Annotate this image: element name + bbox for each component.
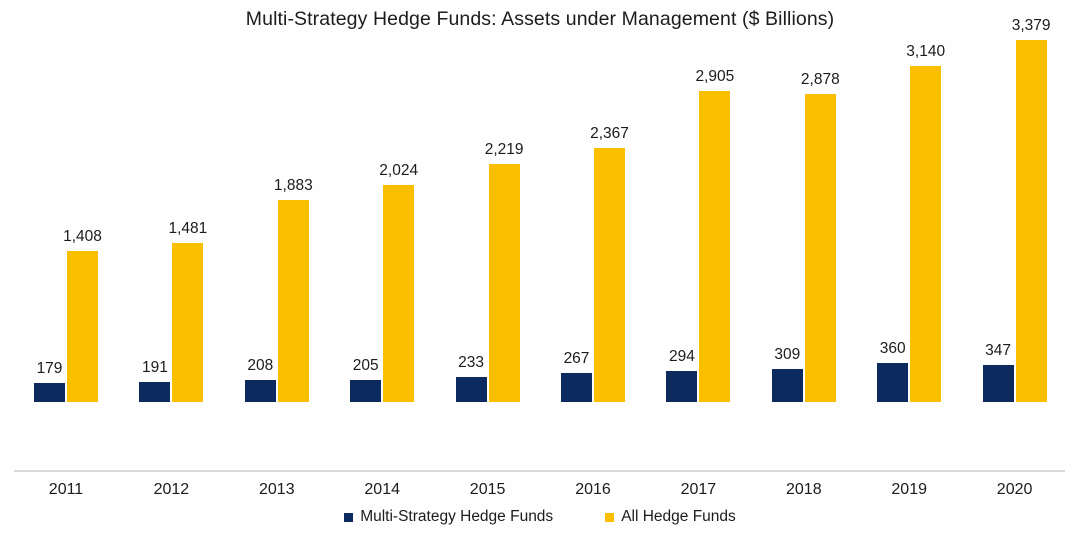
bar-all-hedge-funds-2015[interactable]: [489, 164, 520, 402]
bar-all-hedge-funds-2014[interactable]: [383, 185, 414, 402]
bar-value-label: 1,883: [274, 178, 313, 194]
bar-value-label: 2,024: [379, 163, 418, 179]
bar-multi-strategy-hedge-funds-2015[interactable]: [456, 377, 487, 402]
bar-multi-strategy-hedge-funds-2013[interactable]: [245, 380, 276, 402]
bar-all-hedge-funds-2013[interactable]: [278, 200, 309, 402]
bar-group-2015: 2332,219: [456, 2, 520, 402]
bar-value-label: 347: [985, 343, 1011, 359]
bar-all-hedge-funds-2017[interactable]: [699, 91, 730, 402]
bar-all-hedge-funds-2018[interactable]: [805, 94, 836, 402]
bar-value-label: 294: [669, 349, 695, 365]
category-axis-line: [14, 470, 1065, 472]
category-label-2017: 2017: [653, 481, 743, 499]
legend-label: Multi-Strategy Hedge Funds: [360, 508, 553, 526]
category-label-2011: 2011: [21, 481, 111, 499]
legend-label: All Hedge Funds: [621, 508, 736, 526]
category-label-2018: 2018: [759, 481, 849, 499]
bar-multi-strategy-hedge-funds-2019[interactable]: [877, 363, 908, 402]
bar-multi-strategy-hedge-funds-2017[interactable]: [666, 371, 697, 402]
category-label-2013: 2013: [232, 481, 322, 499]
bar-multi-strategy-hedge-funds-2016[interactable]: [561, 373, 592, 402]
bar-value-label: 2,219: [485, 142, 524, 158]
bar-group-2013: 2081,883: [245, 2, 309, 402]
bar-value-label: 3,140: [906, 44, 945, 60]
bar-value-label: 2,367: [590, 126, 629, 142]
bar-multi-strategy-hedge-funds-2018[interactable]: [772, 369, 803, 402]
chart-container: Multi-Strategy Hedge Funds: Assets under…: [0, 0, 1080, 539]
category-label-2014: 2014: [337, 481, 427, 499]
chart-legend: Multi-Strategy Hedge FundsAll Hedge Fund…: [0, 508, 1080, 526]
bar-group-2019: 3603,140: [877, 2, 941, 402]
legend-item-multi-strategy-hedge-funds[interactable]: Multi-Strategy Hedge Funds: [344, 508, 553, 526]
bar-value-label: 3,379: [1012, 18, 1051, 34]
bar-all-hedge-funds-2012[interactable]: [172, 243, 203, 402]
bar-all-hedge-funds-2020[interactable]: [1016, 40, 1047, 402]
bar-all-hedge-funds-2019[interactable]: [910, 66, 941, 402]
bar-value-label: 2,905: [695, 69, 734, 85]
bar-group-2012: 1911,481: [139, 2, 203, 402]
bar-multi-strategy-hedge-funds-2011[interactable]: [34, 383, 65, 402]
category-label-2020: 2020: [970, 481, 1060, 499]
bar-multi-strategy-hedge-funds-2014[interactable]: [350, 380, 381, 402]
bar-group-2017: 2942,905: [666, 2, 730, 402]
bar-all-hedge-funds-2011[interactable]: [67, 251, 98, 402]
bar-group-2014: 2052,024: [350, 2, 414, 402]
bar-all-hedge-funds-2016[interactable]: [594, 148, 625, 402]
legend-swatch-icon: [344, 513, 353, 522]
category-label-2012: 2012: [126, 481, 216, 499]
bar-value-label: 309: [774, 347, 800, 363]
bar-value-label: 1,481: [168, 221, 207, 237]
bar-value-label: 267: [564, 351, 590, 367]
bar-group-2016: 2672,367: [561, 2, 625, 402]
category-label-2019: 2019: [864, 481, 954, 499]
bar-value-label: 233: [458, 355, 484, 371]
category-label-2016: 2016: [548, 481, 638, 499]
bar-value-label: 191: [142, 360, 168, 376]
bar-value-label: 1,408: [63, 229, 102, 245]
bar-multi-strategy-hedge-funds-2012[interactable]: [139, 382, 170, 402]
bar-value-label: 360: [880, 341, 906, 357]
bar-value-label: 179: [37, 361, 63, 377]
plot-area: 1791,4081911,4812081,8832052,0242332,219…: [0, 0, 1080, 471]
legend-swatch-icon: [605, 513, 614, 522]
bar-group-2020: 3473,379: [983, 2, 1047, 402]
bar-value-label: 205: [353, 358, 379, 374]
category-label-2015: 2015: [443, 481, 533, 499]
legend-item-all-hedge-funds[interactable]: All Hedge Funds: [605, 508, 736, 526]
bar-group-2018: 3092,878: [772, 2, 836, 402]
bar-value-label: 208: [247, 358, 273, 374]
bar-value-label: 2,878: [801, 72, 840, 88]
bar-multi-strategy-hedge-funds-2020[interactable]: [983, 365, 1014, 402]
bar-group-2011: 1791,408: [34, 2, 98, 402]
